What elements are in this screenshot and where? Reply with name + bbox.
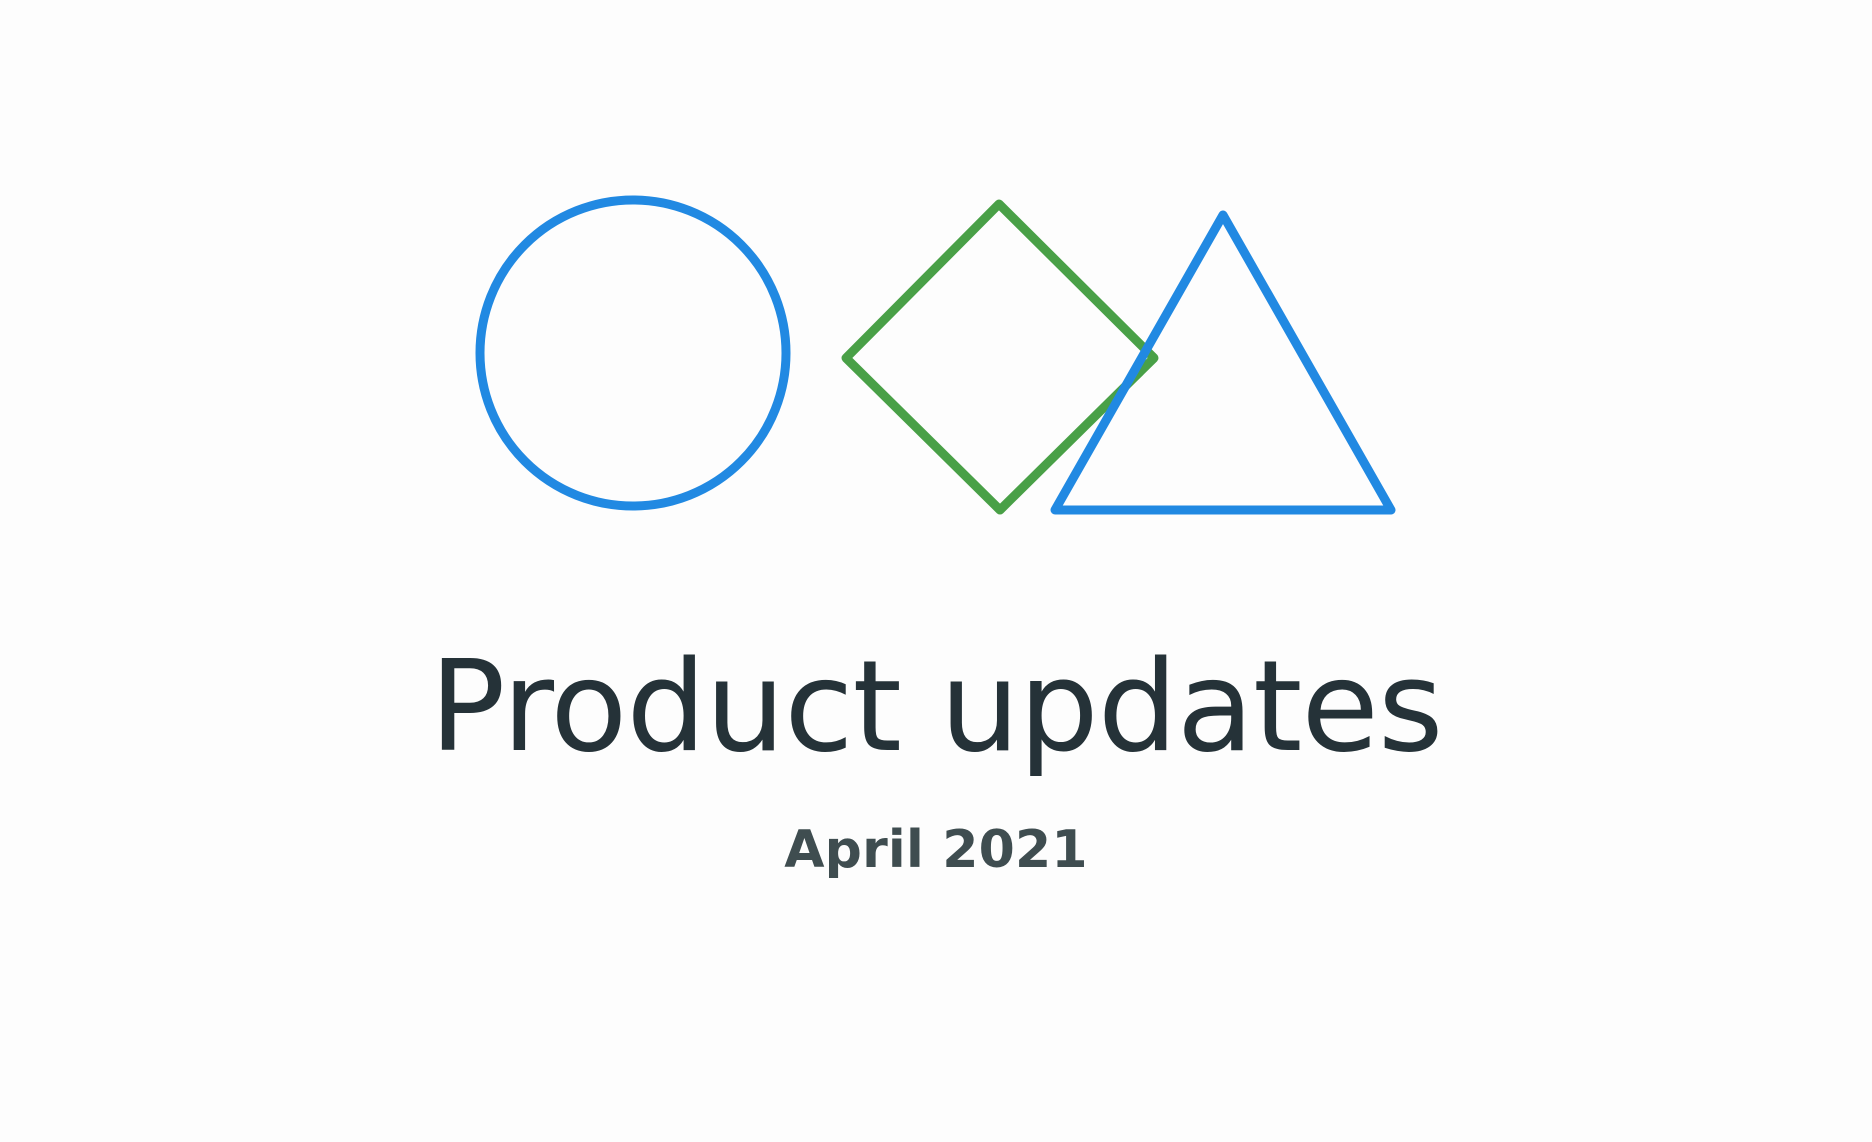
diamond-shape-icon: [846, 204, 1154, 510]
logo-container: [0, 150, 1872, 570]
page-title: Product updates: [0, 640, 1872, 774]
circle-shape-icon: [480, 200, 786, 506]
page-subtitle-date: April 2021: [0, 822, 1872, 879]
triangle-shape-icon: [1055, 215, 1391, 510]
title-block: Product updates April 2021: [0, 640, 1872, 879]
geometric-shapes-logo: [436, 150, 1436, 570]
product-updates-slide: Product updates April 2021: [0, 0, 1872, 1142]
